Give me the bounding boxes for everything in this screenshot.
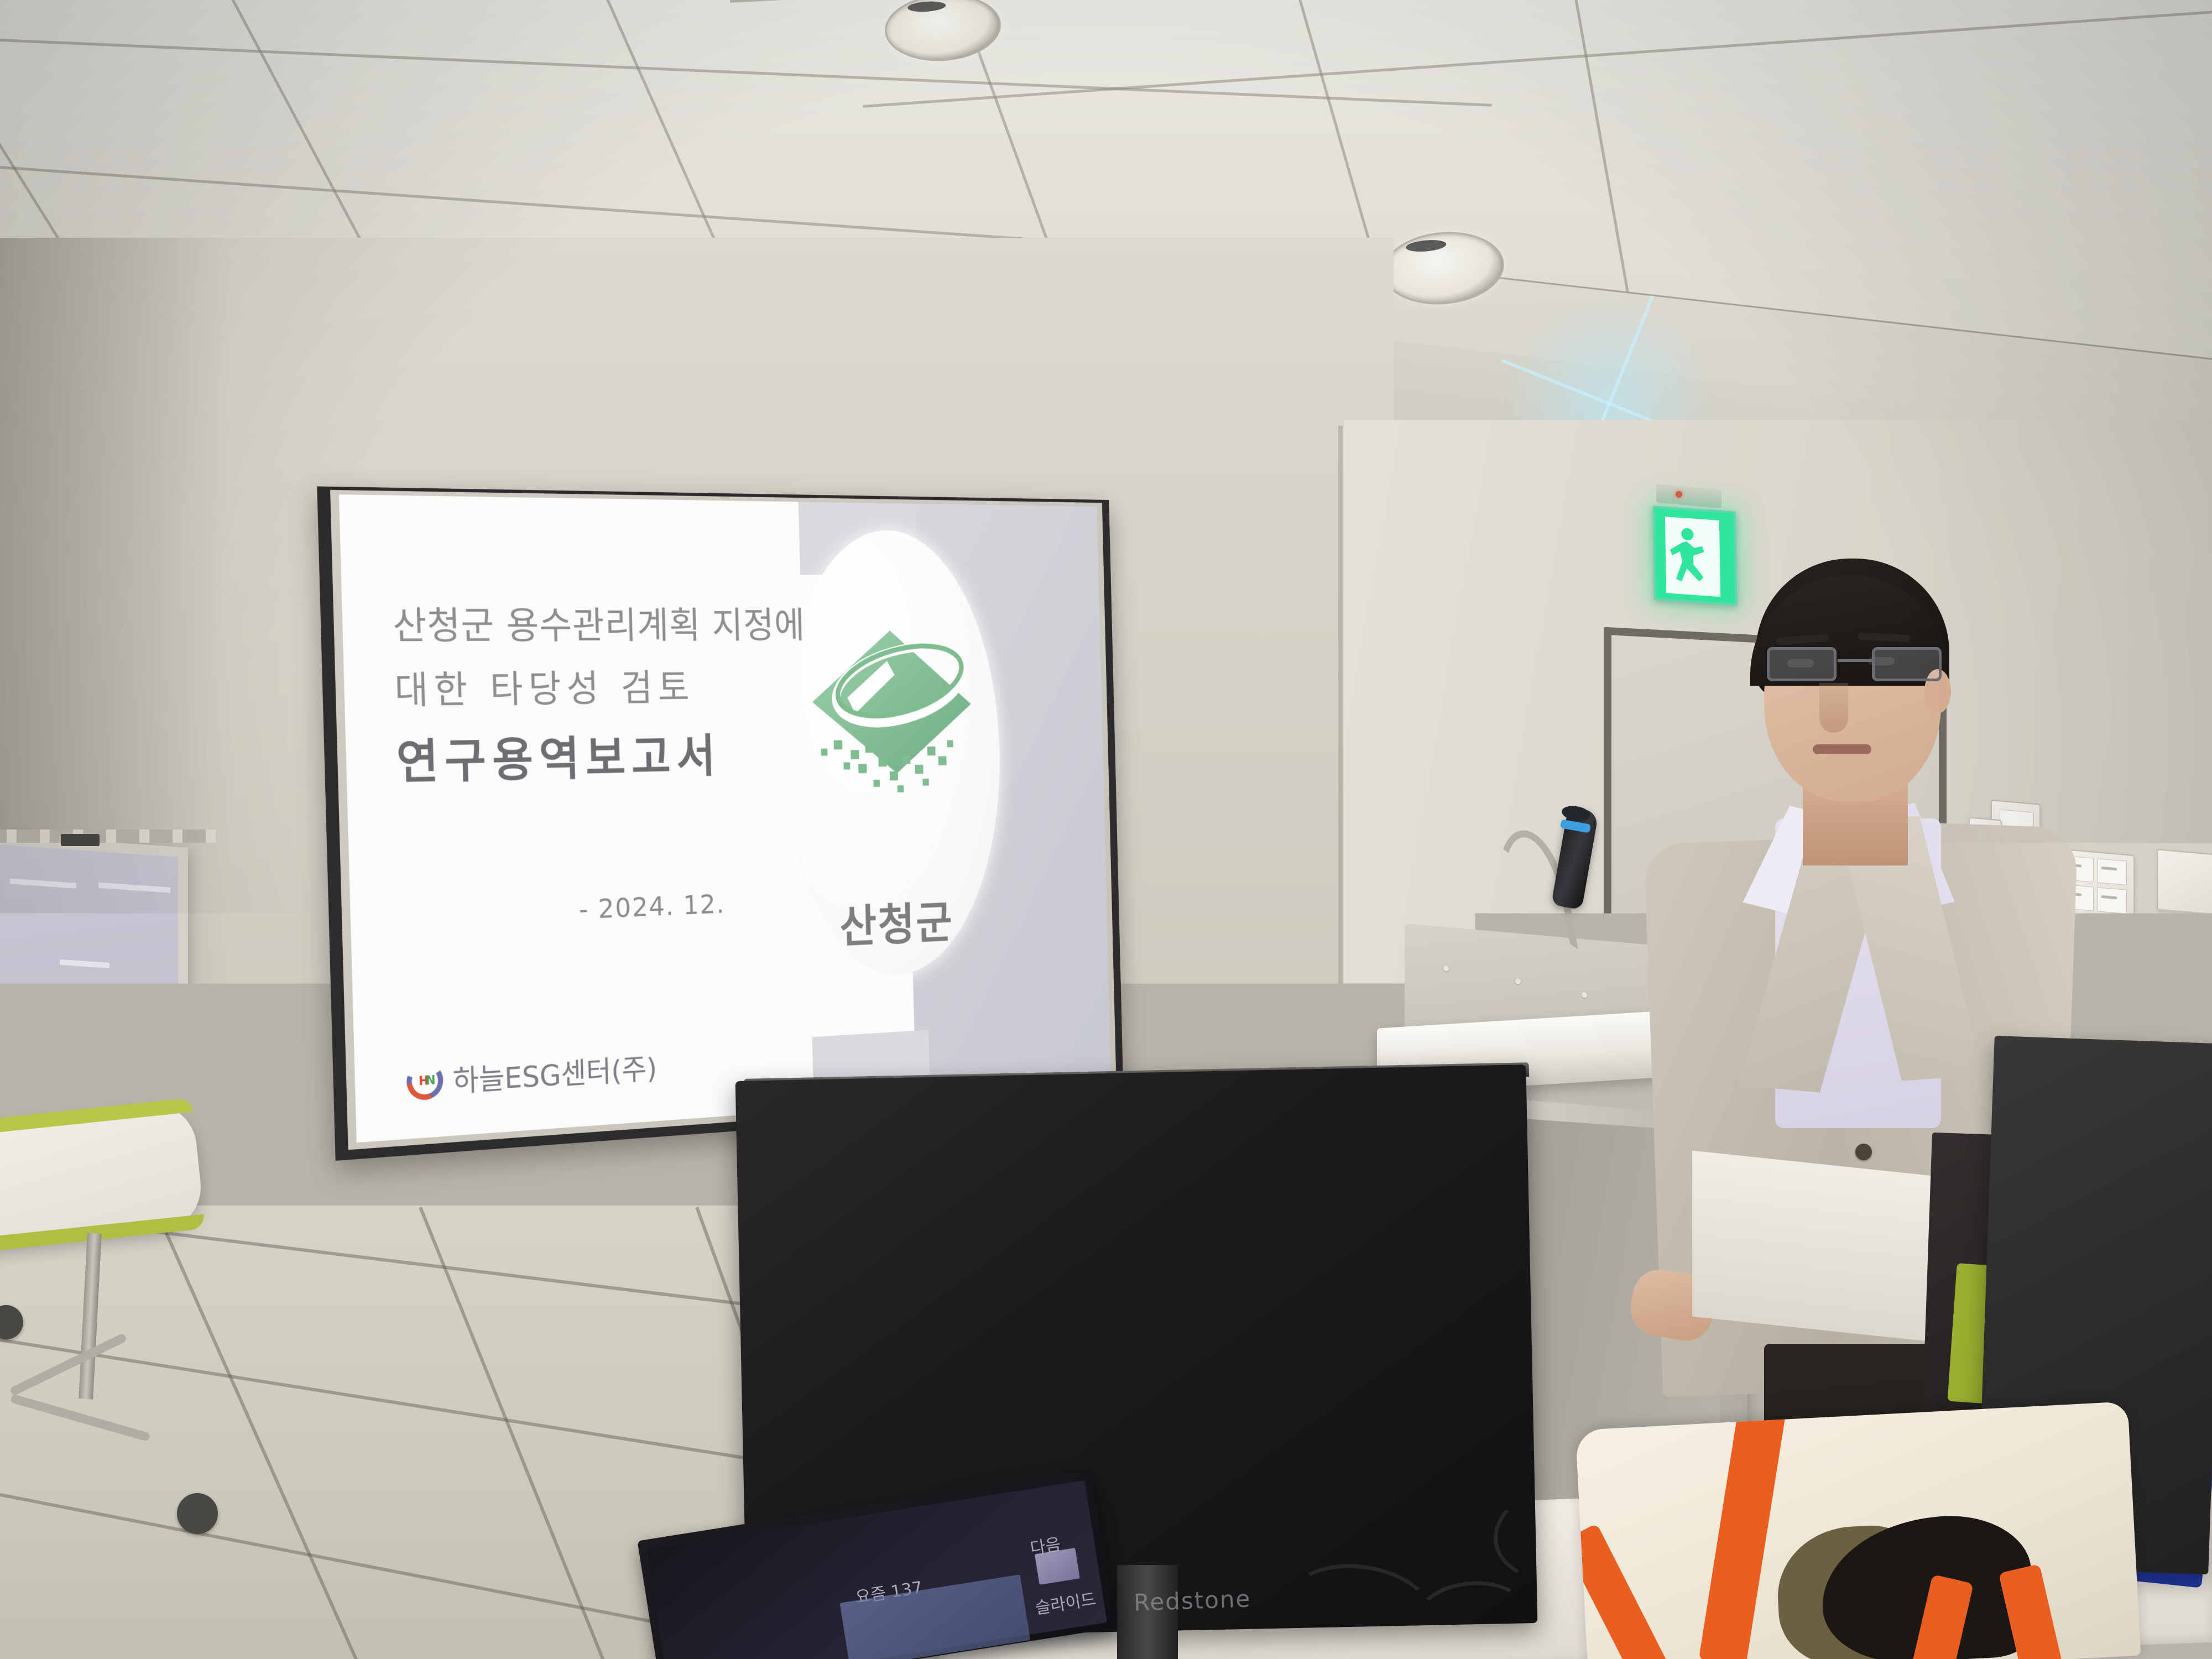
haneul-esg-logo-icon: H N xyxy=(405,1060,445,1102)
sancheong-gun-emblem: 산청군 xyxy=(777,529,1005,980)
webcam-icon xyxy=(61,834,100,846)
chair-caster xyxy=(177,1493,218,1534)
slide-title-line-1: 산청군 용수관리계획 지정에 xyxy=(392,595,806,650)
sancheong-emblem-mark xyxy=(796,583,984,836)
projection-screen: 산청군 산청군 용수관리계획 지정에 대한 타당성 검토 연구용역보고서 - 2… xyxy=(317,486,1124,1161)
tote-bag xyxy=(1575,1401,2141,1659)
chair-seat[interactable] xyxy=(0,1100,205,1251)
slide-title-line-3: 연구용역보고서 xyxy=(395,719,722,793)
water-bottle: 삼다수 xyxy=(525,1430,647,1659)
svg-text:N: N xyxy=(425,1074,435,1088)
slide-title-line-2: 대한 타당성 검토 xyxy=(394,658,695,715)
emblem-name-label: 산청군 xyxy=(786,884,1004,958)
bottle-cap xyxy=(556,1431,619,1484)
tote-strap xyxy=(1699,1401,1787,1659)
projected-slide: 산청군 산청군 용수관리계획 지정에 대한 타당성 검토 연구용역보고서 - 2… xyxy=(339,494,1111,1142)
laptop-slide-label: 슬라이드 xyxy=(1033,1585,1097,1619)
tote-strap xyxy=(1575,1524,1680,1659)
mouth xyxy=(1813,744,1871,754)
left-display-topbar xyxy=(0,830,216,843)
laptop-slide-thumbnail[interactable] xyxy=(1035,1548,1080,1585)
monitor-brand-label: Redstone xyxy=(1133,1585,1251,1616)
eyeglasses xyxy=(1767,647,1944,682)
bottle-brand-label: 삼다수 xyxy=(557,1601,647,1631)
bottle-label: 삼다수 xyxy=(542,1537,641,1642)
green-diamond-swoosh-icon xyxy=(796,583,984,836)
exit-sign-led-indicator xyxy=(1676,491,1682,498)
jacket-button xyxy=(1855,1144,1872,1160)
slide-date: - 2024. 12. xyxy=(578,889,726,925)
meeting-room-photo: (주) xyxy=(0,0,2212,1659)
wall-outlet-plate[interactable] xyxy=(2157,849,2212,915)
nose xyxy=(1819,683,1848,733)
